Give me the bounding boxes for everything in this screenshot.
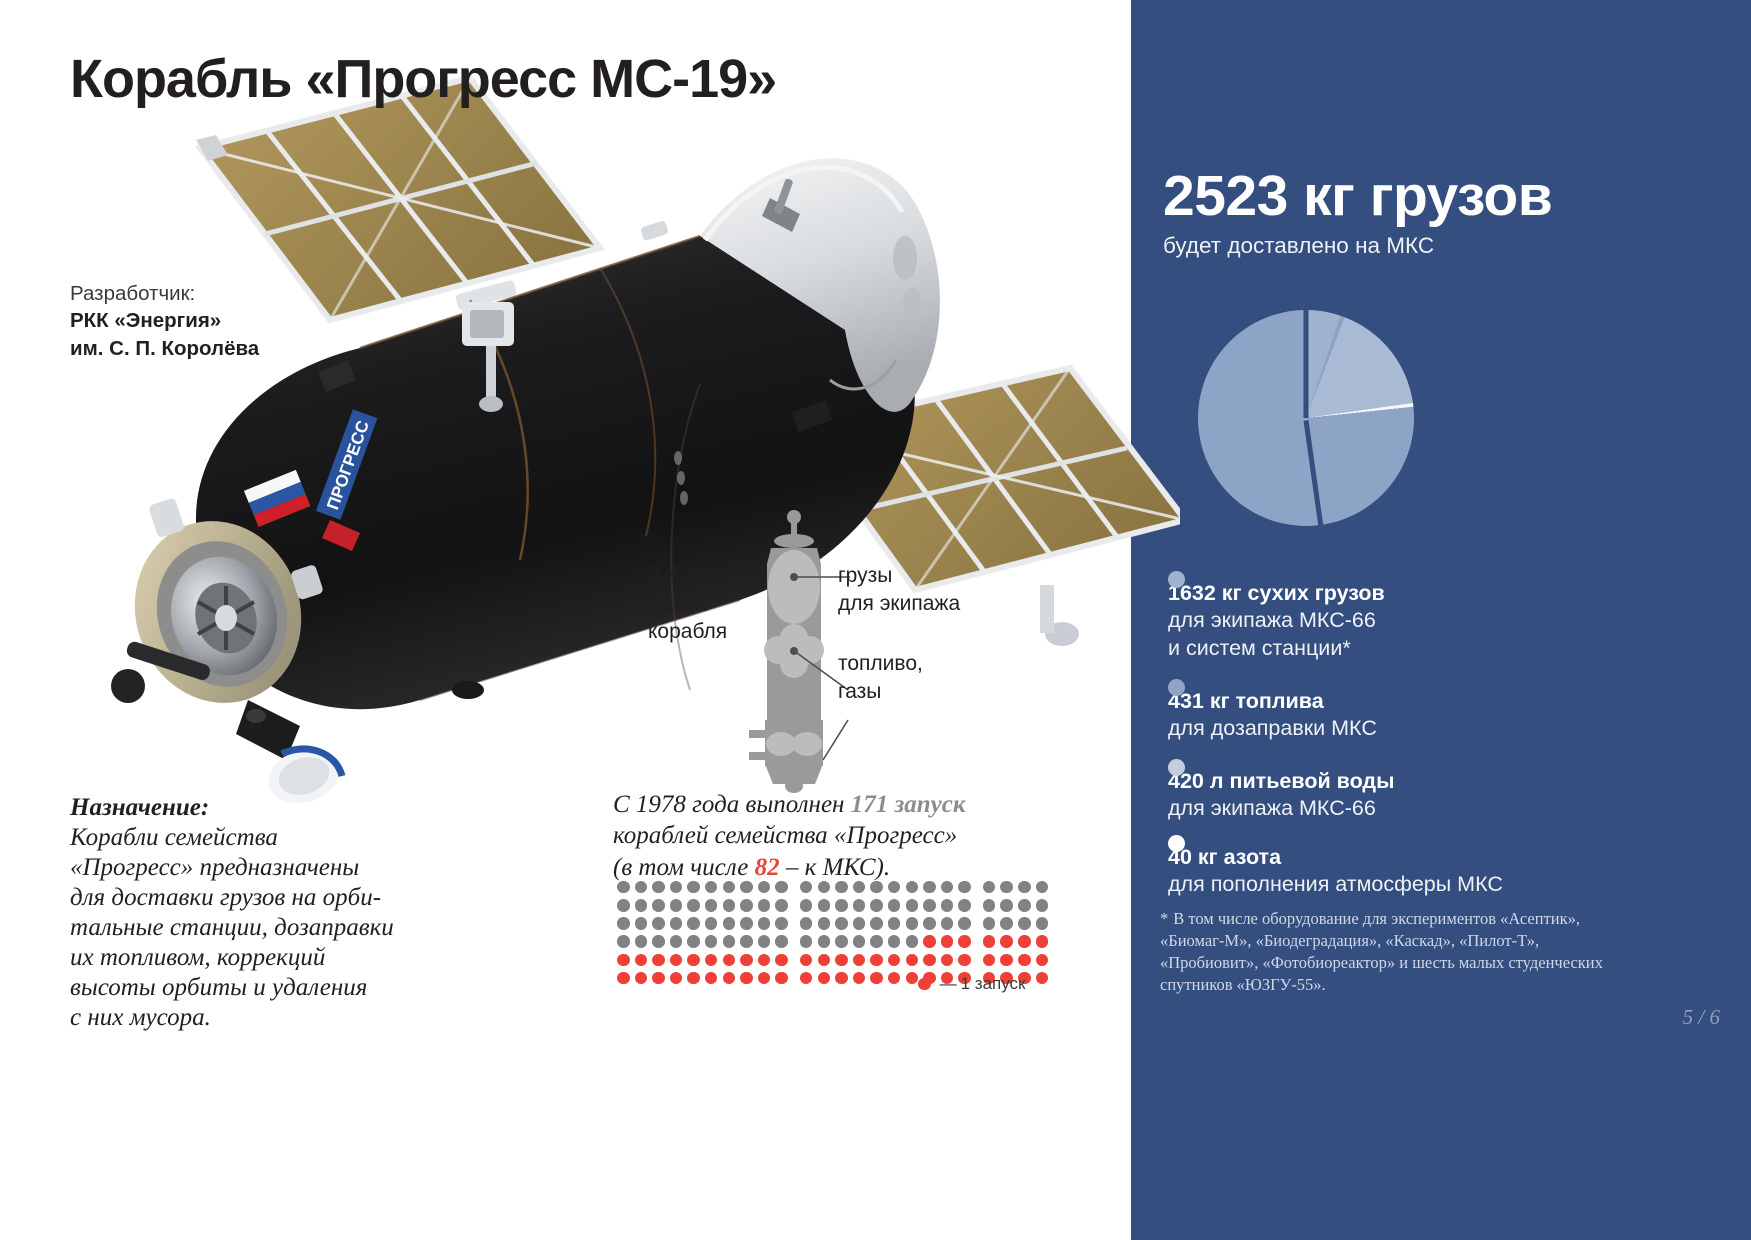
launch-dot-other	[670, 899, 683, 912]
launch-dot-other	[758, 899, 771, 912]
launch-dot-iss	[835, 972, 848, 985]
launch-dot-other	[775, 881, 788, 894]
dot-group-spacer	[976, 917, 983, 930]
launch-dot-other	[1018, 881, 1031, 894]
cargo-bullet-nitrogen: 40 кг азота для пополнения атмосферы МКС	[1168, 826, 1638, 899]
launch-dot-other	[818, 899, 831, 912]
launch-dot-other	[1000, 899, 1013, 912]
launch-dot-other	[670, 881, 683, 894]
launch-dot-iss	[652, 954, 665, 967]
dot-group-spacer	[793, 935, 800, 948]
bullet-sub: для пополнения атмосферы МКС	[1168, 871, 1638, 898]
launch-dot-other	[888, 917, 901, 930]
launch-dot-iss	[652, 972, 665, 985]
launch-dot-iss	[800, 972, 813, 985]
launch-dot-other	[1036, 881, 1049, 894]
launch-dot-other	[635, 899, 648, 912]
launch-iss-highlight: 82	[755, 854, 780, 881]
launch-dot-iss	[835, 954, 848, 967]
launch-dot-iss	[758, 972, 771, 985]
launch-dot-other	[923, 881, 936, 894]
launch-dot-iss	[1036, 935, 1049, 948]
launch-dot-other	[723, 899, 736, 912]
cargo-pie-chart	[1198, 310, 1414, 526]
launch-dot-other	[635, 935, 648, 948]
launch-dot-matrix	[617, 878, 1067, 987]
launch-dot-other	[775, 899, 788, 912]
page-title: Корабль «Прогресс МС-19»	[70, 48, 776, 110]
developer-name-line2: им. С. П. Королёва	[70, 335, 400, 362]
cargo-total-subhead: будет доставлено на МКС	[1163, 232, 1723, 259]
pie-divider-vertical	[1304, 310, 1309, 418]
launch-dot-other	[835, 935, 848, 948]
launch-dot-other	[835, 917, 848, 930]
launch-dot-other	[818, 881, 831, 894]
launch-dot-other	[652, 899, 665, 912]
purpose-heading: Назначение:	[70, 793, 470, 823]
launch-dot-other	[740, 881, 753, 894]
launch-dot-other	[652, 917, 665, 930]
launch-dot-other	[818, 917, 831, 930]
launch-dot-other	[652, 881, 665, 894]
launch-dot-iss	[1000, 954, 1013, 967]
launch-dot-iss	[1018, 935, 1031, 948]
launch-dot-other	[740, 917, 753, 930]
label-fuel-gases: топливо, газы	[838, 650, 1018, 705]
launch-dot-iss	[941, 954, 954, 967]
launch-dot-iss	[670, 972, 683, 985]
bullet-strong: 40 кг азота	[1168, 844, 1638, 871]
label-fuel-line1: топливо,	[838, 652, 923, 675]
launch-dot-other	[888, 881, 901, 894]
launch-dot-other	[800, 899, 813, 912]
launch-dot-iss	[870, 972, 883, 985]
launch-dot-other	[687, 899, 700, 912]
launch-dot-other	[923, 917, 936, 930]
launch-dot-iss	[635, 972, 648, 985]
launch-dot-other	[705, 899, 718, 912]
launch-dot-other	[906, 899, 919, 912]
launch-dot-other	[906, 935, 919, 948]
launch-dot-other	[1000, 917, 1013, 930]
launch-dot-other	[958, 899, 971, 912]
launch-dot-other	[800, 881, 813, 894]
developer-name-line1: РКК «Энергия»	[70, 307, 400, 334]
footnote-marker: *	[1160, 909, 1168, 928]
panel-footnote: *В том числе оборудование для эксперимен…	[1160, 908, 1630, 996]
launch-dot-other	[870, 935, 883, 948]
launch-dot-iss	[853, 954, 866, 967]
dot-group-spacer	[793, 899, 800, 912]
launch-dot-iss	[687, 954, 700, 967]
launch-dot-iss	[983, 954, 996, 967]
launch-dot-iss	[1036, 972, 1049, 985]
dot-group-spacer	[976, 881, 983, 894]
cargo-bullet-dry-goods: 1632 кг сухих грузов для экипажа МКС-66 …	[1168, 562, 1638, 662]
launch-dot-other	[652, 935, 665, 948]
dot-group-spacer	[793, 972, 800, 985]
label-crew-cargo: грузы для экипажа	[838, 562, 1018, 617]
launch-dot-other	[941, 899, 954, 912]
launch-dot-iss	[818, 954, 831, 967]
dot-matrix-legend: — 1 запуск	[918, 974, 1025, 994]
launch-dot-other	[758, 881, 771, 894]
launch-dot-other	[670, 935, 683, 948]
launch-line3-prefix: (в том числе	[613, 854, 755, 881]
bullet-strong: 1632 кг сухих грузов	[1168, 580, 1638, 607]
launch-dot-iss	[758, 954, 771, 967]
dot-group-spacer	[976, 954, 983, 967]
launch-dot-iss	[941, 935, 954, 948]
launch-dot-other	[635, 881, 648, 894]
launch-dot-other	[800, 935, 813, 948]
launch-dot-iss	[853, 972, 866, 985]
launch-dot-other	[941, 881, 954, 894]
launch-dot-other	[835, 881, 848, 894]
launch-dot-other	[853, 881, 866, 894]
footnote-text: В том числе оборудование для эксперимент…	[1160, 909, 1603, 994]
launch-dot-other	[1018, 899, 1031, 912]
launch-dot-iss	[723, 972, 736, 985]
launch-dot-other	[670, 917, 683, 930]
launch-dot-other	[835, 899, 848, 912]
label-crew-cargo-line2: для экипажа	[838, 592, 960, 615]
dot-group-spacer	[793, 917, 800, 930]
launch-dot-other	[740, 935, 753, 948]
launch-dot-iss	[635, 954, 648, 967]
launch-dot-iss	[775, 954, 788, 967]
launch-dot-other	[687, 935, 700, 948]
launch-dot-other	[740, 899, 753, 912]
launch-dot-other	[1036, 899, 1049, 912]
launch-dot-iss	[888, 954, 901, 967]
dot-matrix-row	[617, 878, 1067, 896]
launch-dot-other	[888, 935, 901, 948]
launch-dot-other	[983, 917, 996, 930]
launch-dot-other	[958, 881, 971, 894]
launch-dot-other	[1018, 917, 1031, 930]
launch-dot-other	[723, 881, 736, 894]
launch-dot-iss	[1018, 954, 1031, 967]
launch-dot-iss	[687, 972, 700, 985]
launch-dot-other	[853, 917, 866, 930]
developer-label: Разработчик:	[70, 280, 400, 307]
mass-value: 7,4 т	[648, 562, 698, 588]
launch-statistics-text: С 1978 года выполнен 171 запуск кораблей…	[613, 789, 1073, 883]
launch-dot-iss	[617, 972, 630, 985]
launch-dot-iss	[800, 954, 813, 967]
mass-label: 7,4 т масса корабля	[648, 560, 758, 646]
dot-group-spacer	[976, 935, 983, 948]
mass-caption-line1: масса	[648, 593, 707, 616]
cargo-bullet-fuel: 431 кг топлива для дозаправки МКС	[1168, 670, 1638, 743]
launch-dot-other	[800, 917, 813, 930]
launch-dot-iss	[617, 954, 630, 967]
developer-block: Разработчик: РКК «Энергия» им. С. П. Кор…	[70, 280, 400, 362]
launch-dot-iss	[723, 954, 736, 967]
dot-matrix-row	[617, 933, 1067, 951]
bullet-dot-icon	[1168, 835, 1185, 852]
purpose-block: Назначение: Корабли семейства «Прогресс»…	[70, 793, 470, 1033]
launch-dot-iss	[958, 935, 971, 948]
launch-dot-other	[906, 881, 919, 894]
launch-dot-iss	[705, 972, 718, 985]
dot-matrix-row	[617, 914, 1067, 932]
legend-label: 1 запуск	[961, 974, 1026, 994]
launch-dot-other	[853, 935, 866, 948]
launch-dot-other	[906, 917, 919, 930]
launch-dot-other	[1036, 917, 1049, 930]
launch-dot-other	[870, 917, 883, 930]
legend-dash: —	[940, 974, 957, 994]
launch-dot-iss	[870, 954, 883, 967]
purpose-body: Корабли семейства «Прогресс» предназначе…	[70, 823, 470, 1033]
launch-dot-iss	[923, 935, 936, 948]
cargo-total-headline: 2523 кг грузов	[1163, 168, 1723, 225]
launch-dot-other	[687, 917, 700, 930]
launch-dot-iss	[906, 972, 919, 985]
launch-dot-iss	[983, 935, 996, 948]
bullet-sub: для экипажа МКС-66 и систем станции*	[1168, 607, 1638, 662]
page-number: 5 / 6	[1640, 1005, 1720, 1030]
launch-dot-iss	[775, 972, 788, 985]
launch-dot-other	[923, 899, 936, 912]
launch-dot-other	[705, 935, 718, 948]
launch-dot-iss	[888, 972, 901, 985]
launch-dot-other	[853, 899, 866, 912]
launch-total-highlight: 171 запуск	[851, 791, 966, 818]
launch-dot-other	[818, 935, 831, 948]
launch-dot-other	[941, 917, 954, 930]
launch-line1-prefix: С 1978 года выполнен	[613, 791, 851, 818]
launch-dot-iss	[1036, 954, 1049, 967]
launch-dot-iss	[923, 954, 936, 967]
mass-caption-line2: корабля	[648, 620, 727, 643]
dot-group-spacer	[793, 881, 800, 894]
launch-dot-other	[983, 899, 996, 912]
dot-matrix-row	[617, 896, 1067, 914]
launch-dot-other	[617, 899, 630, 912]
launch-line2: кораблей семейства «Прогресс»	[613, 820, 1073, 851]
dot-group-spacer	[793, 954, 800, 967]
launch-dot-iss	[740, 972, 753, 985]
launch-dot-other	[888, 899, 901, 912]
bullet-strong: 420 л питьевой воды	[1168, 768, 1638, 795]
bullet-strong: 431 кг топлива	[1168, 688, 1638, 715]
launch-dot-other	[1000, 881, 1013, 894]
legend-dot-icon	[918, 978, 931, 991]
launch-dot-iss	[705, 954, 718, 967]
launch-dot-other	[983, 881, 996, 894]
label-fuel-line2: газы	[838, 680, 881, 703]
dot-group-spacer	[976, 899, 983, 912]
launch-dot-other	[617, 881, 630, 894]
bullet-sub: для экипажа МКС-66	[1168, 795, 1638, 822]
launch-dot-iss	[740, 954, 753, 967]
launch-dot-other	[705, 881, 718, 894]
launch-dot-other	[635, 917, 648, 930]
launch-line3-suffix: – к МКС).	[780, 854, 890, 881]
launch-dot-other	[705, 917, 718, 930]
cargo-bullet-water: 420 л питьевой воды для экипажа МКС-66	[1168, 750, 1638, 823]
launch-dot-other	[617, 917, 630, 930]
dot-matrix-row	[617, 951, 1067, 969]
launch-dot-other	[617, 935, 630, 948]
launch-dot-other	[775, 935, 788, 948]
launch-dot-other	[687, 881, 700, 894]
infographic-page: ПРОГРЕСС	[0, 0, 1751, 1240]
launch-dot-other	[958, 917, 971, 930]
launch-dot-iss	[1000, 935, 1013, 948]
launch-dot-other	[758, 917, 771, 930]
launch-dot-other	[870, 881, 883, 894]
launch-dot-other	[723, 917, 736, 930]
launch-dot-other	[723, 935, 736, 948]
launch-dot-other	[775, 917, 788, 930]
launch-dot-iss	[818, 972, 831, 985]
bullet-sub: для дозаправки МКС	[1168, 715, 1638, 742]
launch-dot-iss	[670, 954, 683, 967]
launch-dot-iss	[958, 954, 971, 967]
launch-dot-iss	[906, 954, 919, 967]
launch-dot-other	[870, 899, 883, 912]
label-crew-cargo-line1: грузы	[838, 564, 892, 587]
launch-dot-other	[758, 935, 771, 948]
